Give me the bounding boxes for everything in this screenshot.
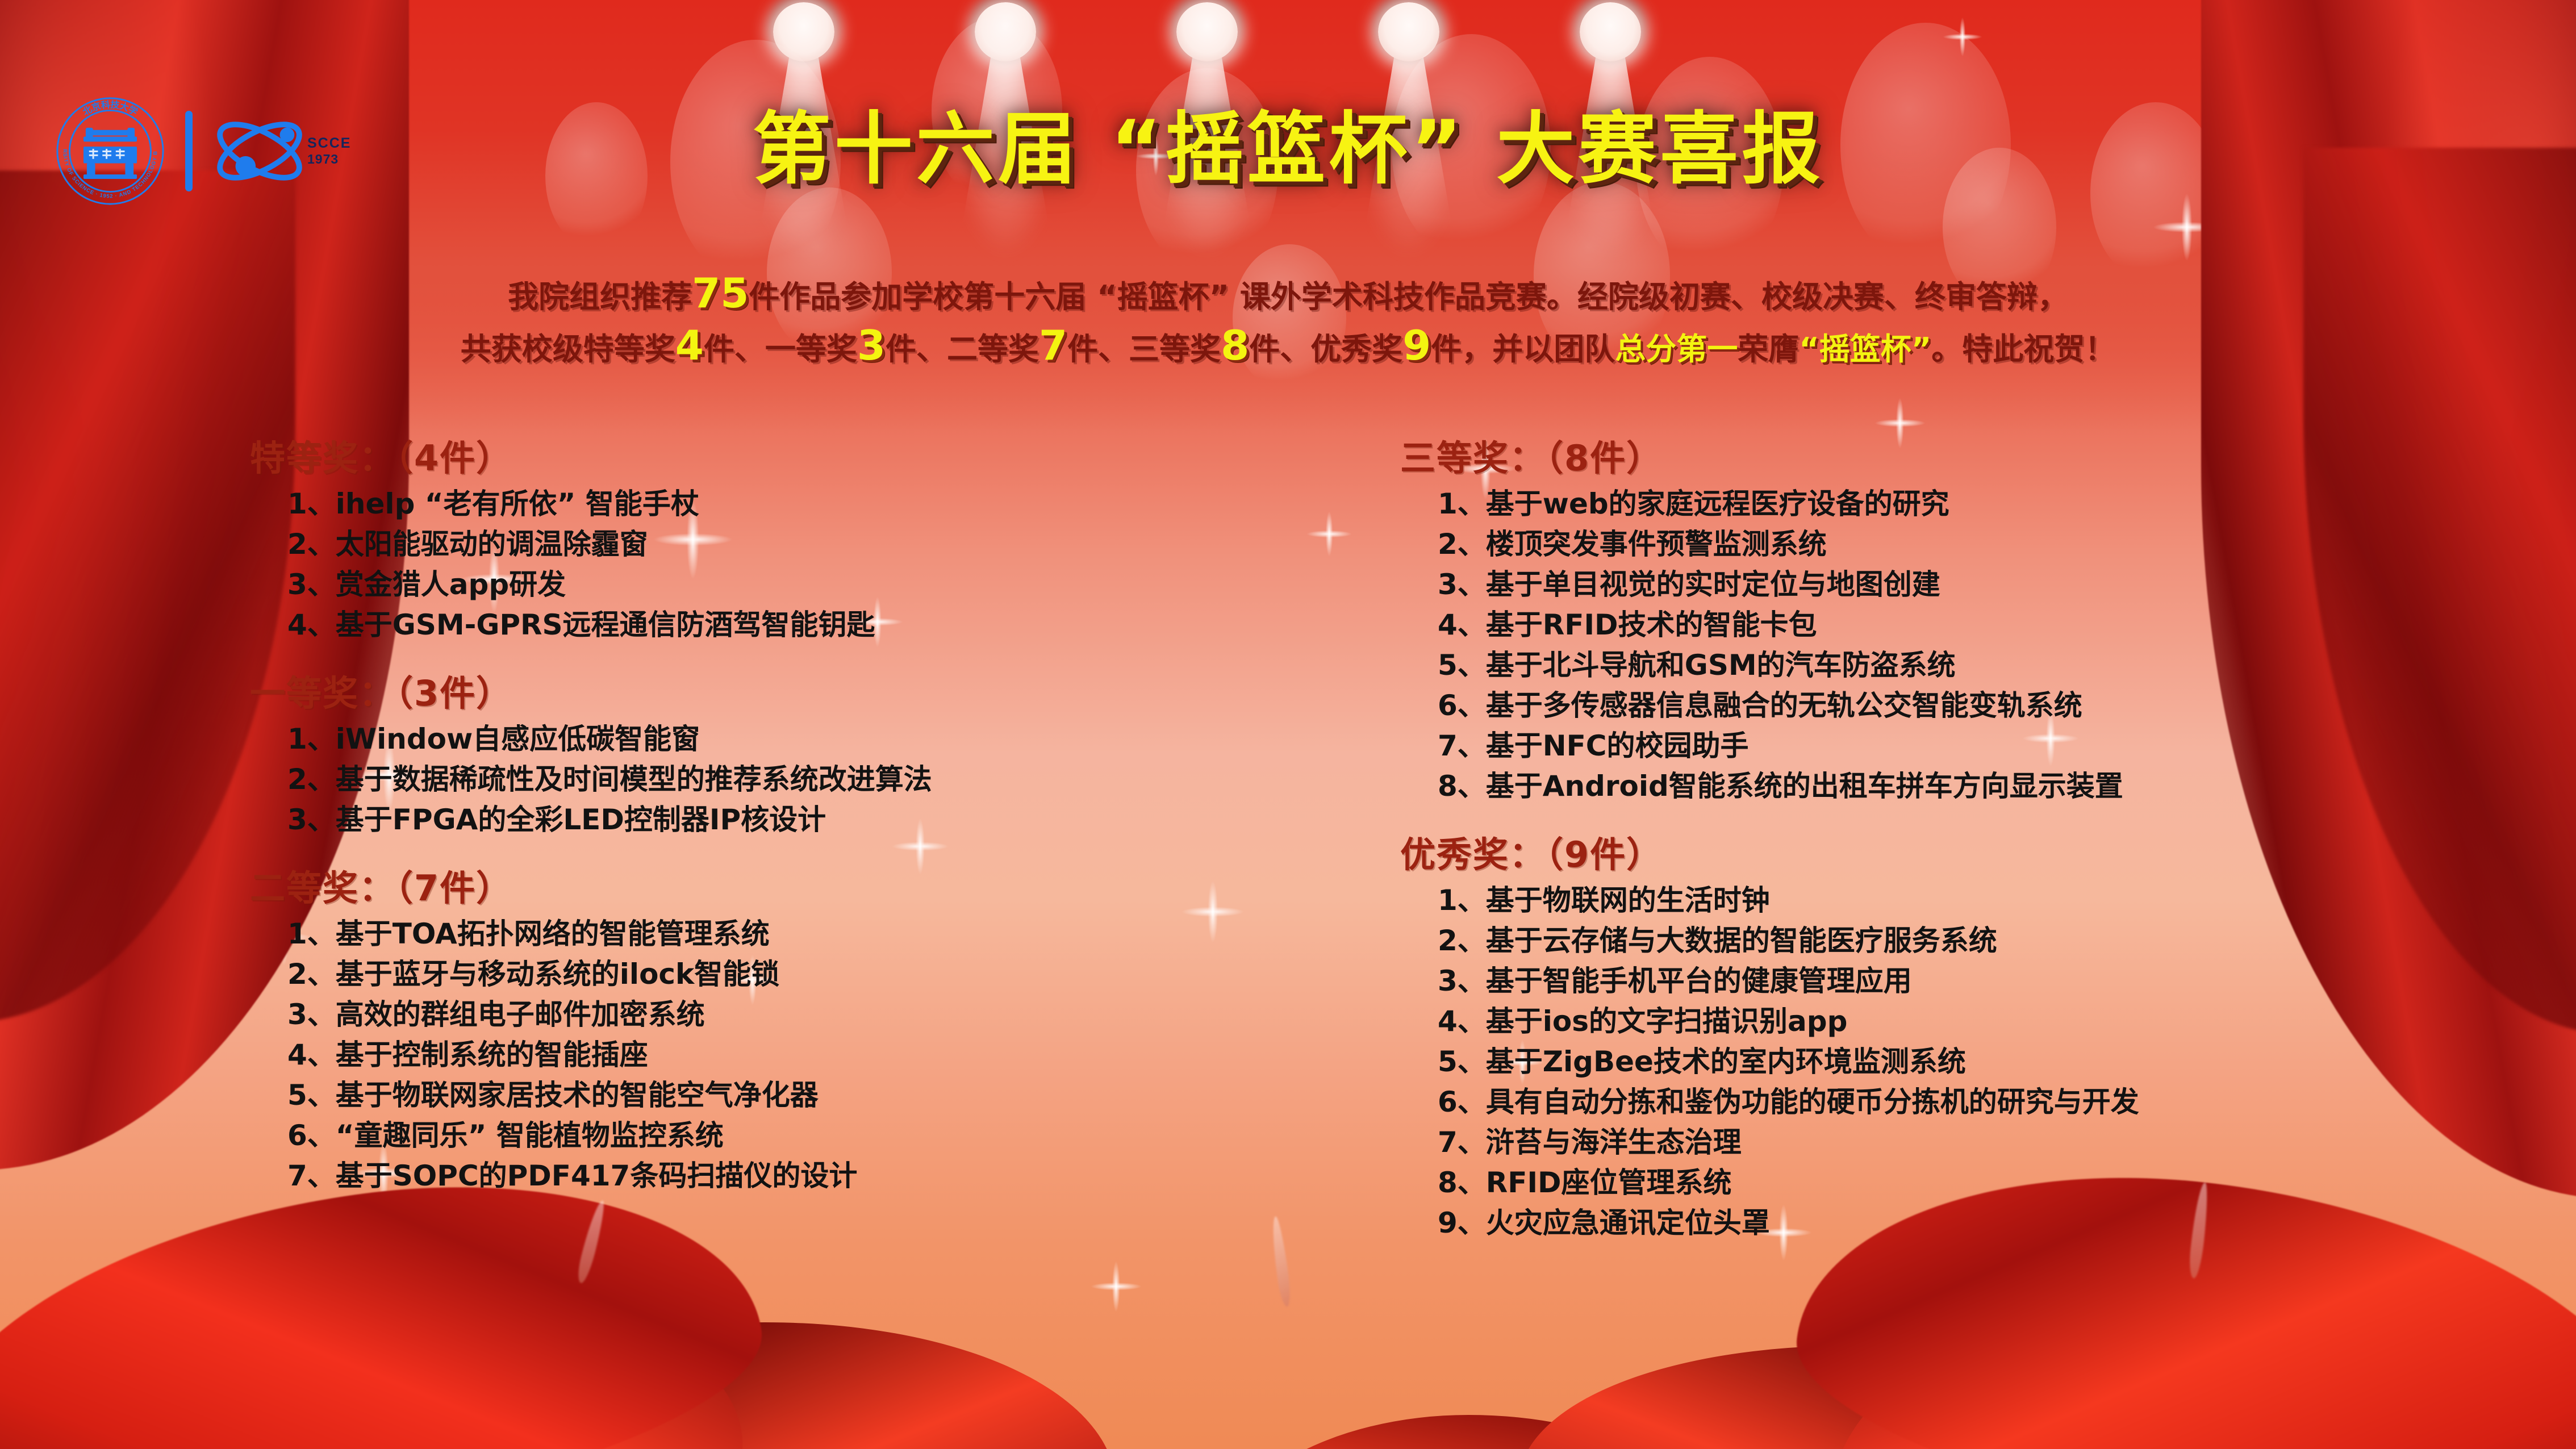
- award-item: 8、基于Android智能系统的出租车拼车方向显示装置: [1438, 766, 2531, 807]
- first-prize-count: 3: [857, 321, 886, 369]
- award-title-special-prize: 特等奖：（4件）: [250, 429, 1324, 481]
- award-item: 2、基于蓝牙与移动系统的ilock智能锁: [287, 954, 1324, 995]
- award-item: 7、浒苔与海洋生态治理: [1438, 1122, 2531, 1163]
- award-item: 3、赏金猎人app研发: [287, 565, 1324, 605]
- award-item: 6、具有自动分拣和鉴伪功能的硬币分拣机的研究与开发: [1438, 1082, 2531, 1122]
- award-item: 3、基于单目视觉的实时定位与地图创建: [1438, 565, 2531, 605]
- award-column-left: 特等奖：（4件）1、ihelp “老有所依” 智能手杖2、太阳能驱动的调温除霾窗…: [244, 429, 1324, 1216]
- total-entries-count: 75: [692, 269, 749, 317]
- sparkle-star: [2153, 193, 2221, 261]
- award-item: 5、基于物联网家居技术的智能空气净化器: [287, 1075, 1324, 1116]
- award-item: 2、太阳能驱动的调温除霾窗: [287, 524, 1324, 565]
- summary-text: 件、三等奖: [1067, 331, 1221, 367]
- award-title-first-prize: 一等奖：（3件）: [250, 665, 1324, 716]
- award-item: 1、基于物联网的生活时钟: [1438, 880, 2531, 921]
- award-item: 4、基于ios的文字扫描识别app: [1438, 1001, 2531, 1042]
- summary-text: 我院组织推荐: [508, 279, 692, 315]
- spotlight-5: [1568, 0, 1653, 83]
- award-list-second-prize: 1、基于TOA拓扑网络的智能管理系统2、基于蓝牙与移动系统的ilock智能锁3、…: [244, 914, 1324, 1196]
- award-block-special-prize: 特等奖：（4件）1、ihelp “老有所依” 智能手杖2、太阳能驱动的调温除霾窗…: [244, 429, 1324, 645]
- award-list-third-prize: 1、基于web的家庭远程医疗设备的研究2、楼顶突发事件预警监测系统3、基于单目视…: [1395, 484, 2531, 807]
- award-block-first-prize: 一等奖：（3件）1、iWindow自感应低碳智能窗2、基于数据稀疏性及时间模型的…: [244, 665, 1324, 840]
- special-prize-count: 4: [675, 321, 704, 369]
- summary-text: 。特此祝贺！: [1931, 331, 2115, 367]
- award-item: 1、iWindow自感应低碳智能窗: [287, 719, 1324, 759]
- award-item: 1、基于TOA拓扑网络的智能管理系统: [287, 914, 1324, 954]
- summary-text: 件、一等奖: [704, 331, 857, 367]
- award-block-third-prize: 三等奖：（8件）1、基于web的家庭远程医疗设备的研究2、楼顶突发事件预警监测系…: [1395, 429, 2531, 807]
- summary-paragraph: 我院组织推荐75件作品参加学校第十六届 “摇篮杯” 课外学术科技作品竞赛。经院级…: [0, 267, 2576, 371]
- award-list-special-prize: 1、ihelp “老有所依” 智能手杖2、太阳能驱动的调温除霾窗3、赏金猎人ap…: [244, 484, 1324, 645]
- award-item: 7、基于NFC的校园助手: [1438, 726, 2531, 766]
- award-item: 4、基于控制系统的智能插座: [287, 1035, 1324, 1075]
- excellence-prize-count: 9: [1402, 321, 1431, 369]
- award-item: 4、基于RFID技术的智能卡包: [1438, 605, 2531, 645]
- rank-highlight: 总分第一: [1615, 331, 1738, 367]
- award-item: 3、高效的群组电子邮件加密系统: [287, 995, 1324, 1035]
- award-item: 3、基于FPGA的全彩LED控制器IP核设计: [287, 800, 1324, 840]
- summary-text: 件，并以团队: [1431, 331, 1615, 367]
- award-item: 5、基于北斗导航和GSM的汽车防盗系统: [1438, 645, 2531, 686]
- award-columns: 特等奖：（4件）1、ihelp “老有所依” 智能手杖2、太阳能驱动的调温除霾窗…: [0, 429, 2576, 1316]
- award-item: 6、“童趣同乐” 智能植物监控系统: [287, 1116, 1324, 1156]
- celebration-poster: 北京科技大学 UNIVERSITY OF SCIENCE · 1952 · AN…: [0, 0, 2576, 1449]
- summary-line-2: 共获校级特等奖4件、一等奖3件、二等奖7件、三等奖8件、优秀奖9件，并以团队总分…: [0, 319, 2576, 371]
- award-list-excellence-prize: 1、基于物联网的生活时钟2、基于云存储与大数据的智能医疗服务系统3、基于智能手机…: [1395, 880, 2531, 1243]
- award-title-excellence-prize: 优秀奖：（9件）: [1400, 826, 2531, 877]
- award-block-second-prize: 二等奖：（7件）1、基于TOA拓扑网络的智能管理系统2、基于蓝牙与移动系统的il…: [244, 859, 1324, 1196]
- award-item: 9、火灾应急通讯定位头罩: [1438, 1203, 2531, 1243]
- third-prize-count: 8: [1221, 321, 1249, 369]
- award-item: 4、基于GSM-GPRS远程通信防酒驾智能钥匙: [287, 605, 1324, 645]
- award-list-first-prize: 1、iWindow自感应低碳智能窗2、基于数据稀疏性及时间模型的推荐系统改进算法…: [244, 719, 1324, 840]
- award-title-third-prize: 三等奖：（8件）: [1400, 429, 2531, 481]
- award-item: 3、基于智能手机平台的健康管理应用: [1438, 961, 2531, 1001]
- summary-text: 件、优秀奖: [1249, 331, 1402, 367]
- cup-highlight: “摇篮杯”: [1799, 331, 1931, 367]
- award-item: 6、基于多传感器信息融合的无轨公交智能变轨系统: [1438, 686, 2531, 726]
- award-item: 2、楼顶突发事件预警监测系统: [1438, 524, 2531, 565]
- award-item: 1、基于web的家庭远程医疗设备的研究: [1438, 484, 2531, 524]
- summary-text: 荣膺: [1738, 331, 1799, 367]
- award-title-second-prize: 二等奖：（7件）: [250, 859, 1324, 911]
- summary-text: 共获校级特等奖: [461, 331, 675, 367]
- summary-line-1: 我院组织推荐75件作品参加学校第十六届 “摇篮杯” 课外学术科技作品竞赛。经院级…: [0, 267, 2576, 319]
- award-item: 5、基于ZigBee技术的室内环境监测系统: [1438, 1042, 2531, 1082]
- summary-text: 件作品参加学校第十六届 “摇篮杯” 课外学术科技作品竞赛。经院级初赛、校级决赛、…: [749, 279, 2068, 315]
- award-block-excellence-prize: 优秀奖：（9件）1、基于物联网的生活时钟2、基于云存储与大数据的智能医疗服务系统…: [1395, 826, 2531, 1243]
- award-item: 7、基于SOPC的PDF417条码扫描仪的设计: [287, 1156, 1324, 1196]
- page-title: 第十六届 “摇篮杯” 大赛喜报: [0, 85, 2576, 199]
- summary-text: 件、二等奖: [886, 331, 1039, 367]
- award-column-right: 三等奖：（8件）1、基于web的家庭远程医疗设备的研究2、楼顶突发事件预警监测系…: [1395, 429, 2531, 1263]
- award-item: 2、基于数据稀疏性及时间模型的推荐系统改进算法: [287, 759, 1324, 800]
- sparkle-star: [1943, 17, 1982, 57]
- award-item: 2、基于云存储与大数据的智能医疗服务系统: [1438, 921, 2531, 961]
- award-item: 8、RFID座位管理系统: [1438, 1163, 2531, 1203]
- award-item: 1、ihelp “老有所依” 智能手杖: [287, 484, 1324, 524]
- second-prize-count: 7: [1039, 321, 1067, 369]
